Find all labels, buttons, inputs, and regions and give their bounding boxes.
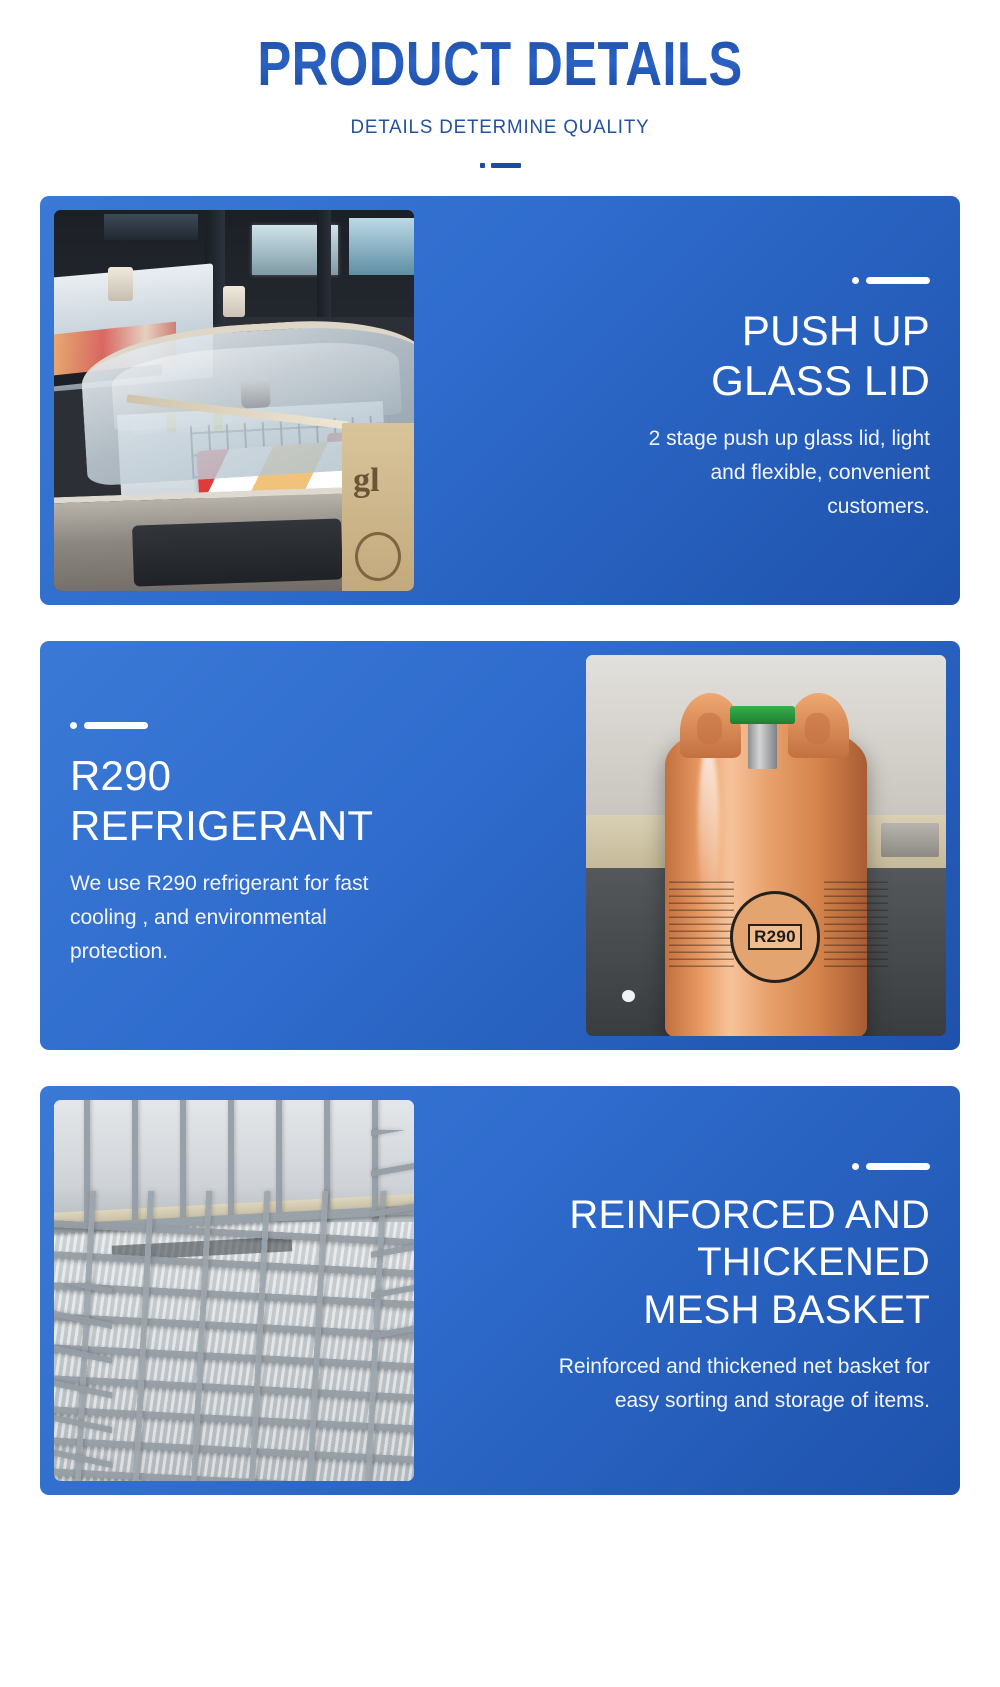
divider-bar-icon [866,1163,930,1170]
feature-text-mesh-basket: REINFORCED AND THICKENED MESH BASKET Rei… [414,1086,960,1495]
feature-image-r290-refrigerant: R290 [586,655,946,1036]
divider-dot-icon [852,1163,859,1170]
card-title-line3: MESH BASKET [643,1287,930,1334]
feature-card-push-up-glass-lid: gl PUSH UP GLASS LID 2 stage push up gla… [40,196,960,605]
header-divider-ornament [0,163,1000,168]
divider-dot-icon [480,163,485,168]
card-title-line1: PUSH UP [742,306,930,356]
feature-card-mesh-basket: REINFORCED AND THICKENED MESH BASKET Rei… [40,1086,960,1495]
cylinder-label-text: R290 [748,924,802,950]
feature-card-r290-refrigerant: R290 R290 REFRIGERANT We use R290 refrig… [40,641,960,1050]
card-description: Reinforced and thickened net basket for … [510,1350,930,1418]
card-title-line2: REFRIGERANT [70,801,373,851]
feature-image-push-up-glass-lid: gl [54,210,414,591]
card-title-line1: REINFORCED AND [569,1192,930,1239]
divider-bar-icon [84,722,148,729]
card-description: We use R290 refrigerant for fast cooling… [70,867,390,969]
divider-bar-icon [866,277,930,284]
card-divider-ornament [852,1163,930,1170]
card-title-line1: R290 [70,751,171,801]
cylinder-label: R290 [730,891,820,982]
page-title: PRODUCT DETAILS [90,34,910,96]
card-description: 2 stage push up glass lid, light and fle… [610,422,930,524]
card-title-line2: THICKENED [697,1239,930,1286]
card-title-line2: GLASS LID [711,356,930,406]
feature-image-mesh-basket [54,1100,414,1481]
page-subtitle: DETAILS DETERMINE QUALITY [20,116,980,139]
feature-card-list: gl PUSH UP GLASS LID 2 stage push up gla… [0,196,1000,1495]
feature-text-r290-refrigerant: R290 REFRIGERANT We use R290 refrigerant… [40,641,586,1050]
divider-dot-icon [852,277,859,284]
page-header: PRODUCT DETAILS DETAILS DETERMINE QUALIT… [0,0,1000,168]
divider-dot-icon [70,722,77,729]
card-divider-ornament [852,277,930,284]
feature-text-push-up-glass-lid: PUSH UP GLASS LID 2 stage push up glass … [414,196,960,605]
divider-bar-icon [491,163,521,168]
card-divider-ornament [70,722,148,729]
